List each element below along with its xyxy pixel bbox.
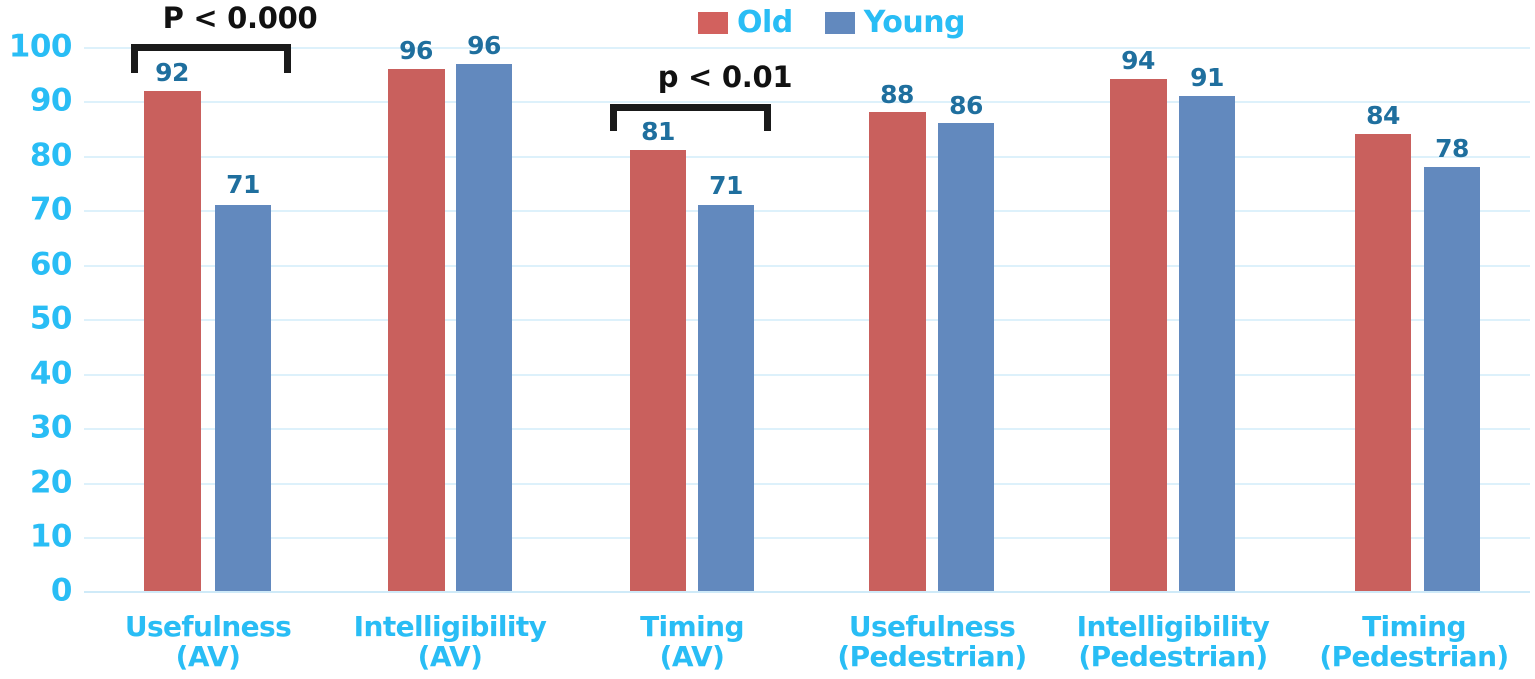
y-tick-80: 80	[0, 141, 72, 172]
x-label-intelligibility-av: Intelligibility (AV)	[330, 612, 570, 672]
legend-label-young: Young	[864, 8, 965, 38]
x-label-usefulness-av-line1: Usefulness	[125, 610, 291, 643]
y-tick-50: 50	[0, 304, 72, 335]
x-label-intelligibility-pedestrian-line1: Intelligibility	[1077, 610, 1270, 643]
bar-old-usefulness-av[interactable]	[144, 91, 201, 591]
bar-chart: 100 90 80 70 60 50 40 30 20 10 0 92 71 9…	[0, 0, 1535, 679]
legend-item-young[interactable]: Young	[825, 8, 965, 38]
plot-area: 100 90 80 70 60 50 40 30 20 10 0 92 71 9…	[0, 0, 1535, 679]
x-label-usefulness-av: Usefulness (AV)	[88, 612, 328, 672]
x-label-usefulness-pedestrian: Usefulness (Pedestrian)	[812, 612, 1052, 672]
bar-old-timing-av[interactable]	[630, 150, 686, 591]
gridline-10	[84, 537, 1530, 539]
significance-text-2: p < 0.01	[545, 63, 905, 92]
significance-text-1: P < 0.000	[60, 4, 420, 33]
x-label-usefulness-av-line2: (AV)	[88, 642, 328, 672]
gridline-90	[84, 101, 1530, 103]
x-label-timing-av-line1: Timing	[640, 610, 744, 643]
x-label-timing-pedestrian: Timing (Pedestrian)	[1294, 612, 1534, 672]
y-tick-70: 70	[0, 195, 72, 226]
gridline-60	[84, 265, 1530, 267]
gridline-50	[84, 319, 1530, 321]
value-label-young-timing-av: 71	[686, 173, 766, 198]
bar-old-intelligibility-pedestrian[interactable]	[1110, 79, 1167, 591]
value-label-old-intelligibility-pedestrian: 94	[1098, 48, 1178, 73]
legend-label-old: Old	[737, 8, 793, 38]
value-label-old-timing-pedestrian: 84	[1343, 103, 1423, 128]
x-label-timing-pedestrian-line1: Timing	[1362, 610, 1466, 643]
x-label-timing-av: Timing (AV)	[572, 612, 812, 672]
x-label-intelligibility-av-line1: Intelligibility	[354, 610, 547, 643]
legend: Old Young	[698, 8, 965, 38]
value-label-young-intelligibility-pedestrian: 91	[1167, 65, 1247, 90]
value-label-young-timing-pedestrian: 78	[1412, 136, 1492, 161]
bar-young-usefulness-pedestrian[interactable]	[938, 123, 994, 591]
bar-old-timing-pedestrian[interactable]	[1355, 134, 1411, 591]
y-tick-20: 20	[0, 468, 72, 499]
x-label-usefulness-pedestrian-line1: Usefulness	[849, 610, 1015, 643]
bar-young-timing-pedestrian[interactable]	[1424, 167, 1480, 591]
value-label-young-usefulness-av: 71	[203, 172, 283, 197]
y-tick-10: 10	[0, 522, 72, 553]
x-label-timing-pedestrian-line2: (Pedestrian)	[1294, 642, 1534, 672]
gridline-40	[84, 374, 1530, 376]
x-label-usefulness-pedestrian-line2: (Pedestrian)	[812, 642, 1052, 672]
bar-young-intelligibility-av[interactable]	[456, 64, 512, 591]
y-tick-30: 30	[0, 413, 72, 444]
legend-item-old[interactable]: Old	[698, 8, 793, 38]
bar-old-usefulness-pedestrian[interactable]	[869, 112, 926, 591]
gridline-30	[84, 428, 1530, 430]
gridline-20	[84, 483, 1530, 485]
y-tick-60: 60	[0, 250, 72, 281]
y-tick-40: 40	[0, 359, 72, 390]
bar-young-intelligibility-pedestrian[interactable]	[1179, 96, 1235, 591]
value-label-young-usefulness-pedestrian: 86	[926, 93, 1006, 118]
x-label-timing-av-line2: (AV)	[572, 642, 812, 672]
gridline-0	[84, 591, 1530, 593]
x-label-intelligibility-av-line2: (AV)	[330, 642, 570, 672]
bar-young-timing-av[interactable]	[698, 205, 754, 591]
gridline-70	[84, 210, 1530, 212]
significance-bracket-2	[610, 104, 771, 131]
legend-swatch-young-icon	[825, 12, 855, 34]
bar-old-intelligibility-av[interactable]	[388, 69, 445, 591]
y-tick-100: 100	[0, 32, 72, 63]
y-tick-0: 0	[0, 576, 72, 607]
gridline-80	[84, 156, 1530, 158]
value-label-young-intelligibility-av: 96	[444, 33, 524, 58]
significance-bracket-1	[131, 44, 291, 73]
x-label-intelligibility-pedestrian-line2: (Pedestrian)	[1053, 642, 1293, 672]
gridline-100	[84, 47, 1530, 49]
legend-swatch-old-icon	[698, 12, 728, 34]
y-tick-90: 90	[0, 86, 72, 117]
x-label-intelligibility-pedestrian: Intelligibility (Pedestrian)	[1053, 612, 1293, 672]
bar-young-usefulness-av[interactable]	[215, 205, 271, 591]
